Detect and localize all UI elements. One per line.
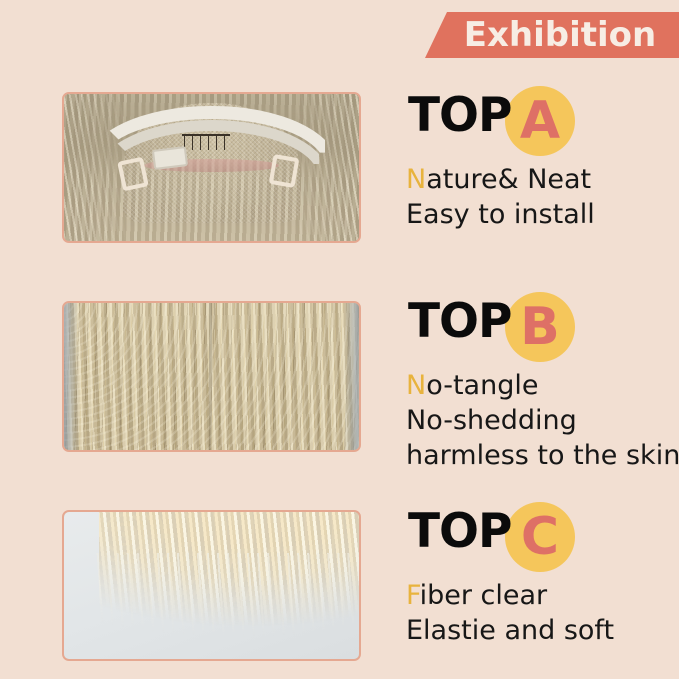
feature-line: Elastie and soft xyxy=(406,613,679,648)
product-photo-panel-a xyxy=(62,92,361,243)
hair-edge-left xyxy=(64,303,79,450)
badge-letter-a: A xyxy=(505,86,575,156)
line-text: o-tangle xyxy=(426,370,538,401)
line-highlight-letter: F xyxy=(406,580,420,611)
top-label-b: TOP xyxy=(408,298,511,345)
top-label-c: TOP xyxy=(408,508,511,555)
line-text: iber clear xyxy=(420,580,548,611)
hair-bundle-seam xyxy=(209,303,212,450)
feature-block-c: TOP C Fiber clear Elastie and soft xyxy=(406,502,679,648)
product-photo-panel-c xyxy=(62,510,361,661)
feature-heading-a: TOP A xyxy=(406,86,679,158)
line-text: harmless to the skin xyxy=(406,440,679,471)
feature-lines-a: Nature& Neat Easy to install xyxy=(406,162,679,232)
wig-cap-interior-image xyxy=(64,94,359,241)
line-text: No-shedding xyxy=(406,405,577,436)
feature-line: harmless to the skin xyxy=(406,438,679,473)
feature-lines-c: Fiber clear Elastie and soft xyxy=(406,578,679,648)
feature-lines-b: No-tangle No-shedding harmless to the sk… xyxy=(406,368,679,473)
feature-line: No-tangle xyxy=(406,368,679,403)
hair-texture-image xyxy=(64,303,359,450)
exhibition-banner: Exhibition xyxy=(425,12,679,58)
curly-hair-tips xyxy=(94,553,360,659)
top-label-a: TOP xyxy=(408,92,511,139)
feature-line: Fiber clear xyxy=(406,578,679,613)
line-highlight-letter: N xyxy=(406,164,426,195)
feature-line: Easy to install xyxy=(406,197,679,232)
feature-line: Nature& Neat xyxy=(406,162,679,197)
infographic-page: Exhibition xyxy=(0,0,679,679)
feature-block-b: TOP B No-tangle No-shedding harmless to … xyxy=(406,292,679,473)
exhibition-banner-label: Exhibition xyxy=(464,18,656,52)
badge-letter-c: C xyxy=(505,502,575,572)
curly-hair-image xyxy=(64,512,359,659)
line-text: Elastie and soft xyxy=(406,615,614,646)
strap-buckle-right xyxy=(269,154,300,188)
line-text: Easy to install xyxy=(406,199,595,230)
feature-heading-c: TOP C xyxy=(406,502,679,574)
feature-heading-b: TOP B xyxy=(406,292,679,364)
hair-edge-right xyxy=(344,303,359,450)
feature-block-a: TOP A Nature& Neat Easy to install xyxy=(406,86,679,232)
zigzag-stitch xyxy=(182,134,230,150)
feature-line: No-shedding xyxy=(406,403,679,438)
product-photo-panel-b xyxy=(62,301,361,452)
line-highlight-letter: N xyxy=(406,370,426,401)
line-text: ature& Neat xyxy=(426,164,591,195)
badge-letter-b: B xyxy=(505,292,575,362)
